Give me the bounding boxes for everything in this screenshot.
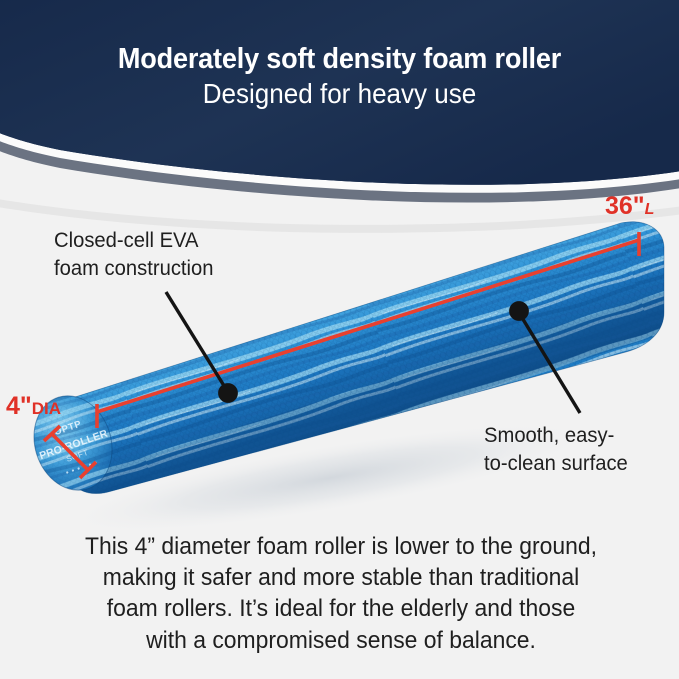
description-line3: foam rollers. It’s ideal for the elderly… — [65, 593, 617, 624]
callout-left-line1: Closed-cell EVA — [54, 226, 214, 254]
diameter-unit: DIA — [32, 399, 61, 418]
callout-right-line2: to-clean surface — [484, 449, 628, 477]
callout-right-line1: Smooth, easy- — [484, 421, 628, 449]
callout-right: Smooth, easy- to-clean surface — [484, 421, 628, 478]
infographic-canvas: Moderately soft density foam roller Desi… — [0, 0, 679, 679]
length-value: 36" — [605, 192, 645, 220]
diameter-label: 4"DIA — [6, 392, 61, 421]
leader-dot-left — [220, 385, 236, 401]
length-unit: L — [645, 201, 655, 218]
leader-dot-right — [511, 303, 527, 319]
description-line1: This 4” diameter foam roller is lower to… — [65, 531, 617, 562]
description-paragraph: This 4” diameter foam roller is lower to… — [52, 531, 630, 656]
length-label: 36"L — [605, 192, 654, 221]
description-line2: making it safer and more stable than tra… — [65, 562, 617, 593]
callout-left-line2: foam construction — [54, 254, 214, 282]
diameter-value: 4" — [6, 392, 32, 420]
callout-left: Closed-cell EVA foam construction — [54, 226, 214, 283]
description-line4: with a compromised sense of balance. — [65, 625, 617, 656]
